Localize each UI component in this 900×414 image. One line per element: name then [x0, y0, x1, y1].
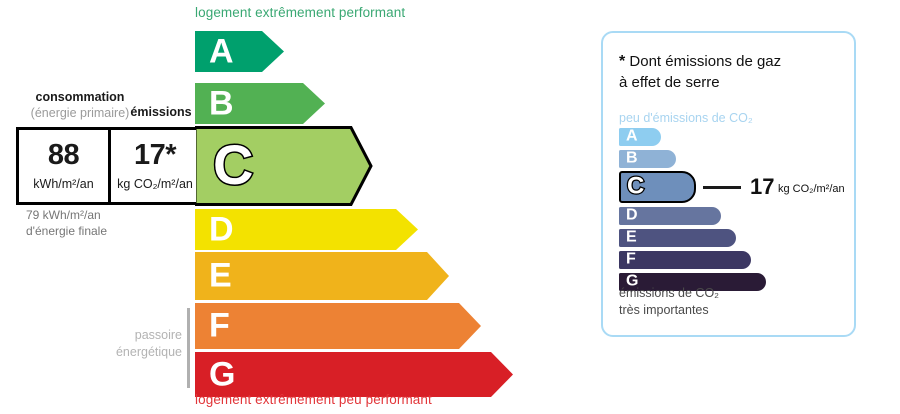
co2-bottom-label: émissions de CO₂ très importantes — [619, 285, 719, 319]
energy-bar-letter: G — [209, 357, 235, 391]
co2-bar-letter: B — [626, 151, 638, 167]
energy-bar-g: G — [195, 352, 513, 397]
energy-bar-letter: A — [209, 34, 234, 68]
co2-bar-letter: C — [627, 175, 644, 199]
energy-bar-c: C — [195, 126, 373, 206]
top-caption: logement extrêmement performant — [195, 5, 405, 20]
emissions-unit: kg CO₂/m²/an — [117, 177, 193, 191]
co2-title-line1: Dont émissions de gaz — [629, 53, 781, 70]
energy-performance-label: logement extrêmement performant ABCDEFG … — [0, 0, 590, 414]
energy-bar-e: E — [195, 252, 449, 300]
co2-bar-letter: F — [626, 252, 636, 268]
energy-bar-b: B — [195, 83, 325, 124]
co2-bar-e: E — [619, 229, 736, 247]
energy-bar-f: F — [195, 303, 481, 349]
co2-bar-c: C — [619, 171, 696, 203]
final-energy-value: 79 kWh/m²/an — [26, 207, 176, 223]
energy-bar-letter: B — [209, 86, 234, 120]
passoire-label-line1: passoire — [96, 327, 182, 344]
co2-bar-d: D — [619, 207, 721, 225]
value-box: 88 kWh/m²/an 17* kg CO₂/m²/an — [16, 127, 196, 205]
co2-panel: * Dont émissions de gaz à effet de serre… — [601, 31, 856, 337]
emissions-value: 17* — [134, 141, 176, 170]
consumption-header: consommation (énergie primaire) — [25, 89, 135, 122]
passoire-divider — [187, 308, 190, 388]
energy-bar-letter: C — [213, 137, 253, 193]
energy-bar-letter: E — [209, 258, 232, 292]
consumption-value: 88 — [48, 141, 79, 170]
dpe-diagram: logement extrêmement performant ABCDEFG … — [0, 0, 900, 414]
energy-bar-a: A — [195, 31, 284, 72]
energy-bar-letter: D — [209, 212, 234, 246]
co2-value: 17 — [750, 176, 774, 198]
asterisk-icon: * — [619, 53, 625, 70]
emissions-header: émissions — [128, 105, 194, 119]
co2-bottom-label-line2: très importantes — [619, 302, 719, 319]
consumption-unit: kWh/m²/an — [33, 177, 93, 191]
consumption-cell: 88 kWh/m²/an — [19, 130, 108, 202]
co2-bar-letter: E — [626, 230, 637, 246]
co2-bottom-label-line1: émissions de CO₂ — [619, 285, 719, 302]
co2-bar-letter: D — [626, 208, 638, 224]
co2-leader-line — [703, 186, 741, 189]
co2-panel-title: * Dont émissions de gaz à effet de serre — [619, 51, 844, 93]
passoire-label: passoire énergétique — [96, 327, 182, 361]
emissions-cell: 17* kg CO₂/m²/an — [108, 130, 199, 202]
co2-bar-f: F — [619, 251, 751, 269]
co2-bar-letter: A — [626, 129, 638, 145]
consumption-header-sublabel: (énergie primaire) — [25, 105, 135, 121]
co2-bar-a: A — [619, 128, 661, 146]
bottom-caption: logement extrêmement peu performant — [195, 392, 432, 407]
passoire-label-line2: énergétique — [96, 344, 182, 361]
co2-top-label: peu d'émissions de CO₂ — [619, 111, 753, 125]
co2-bar-b: B — [619, 150, 676, 168]
final-energy-note: 79 kWh/m²/an d'énergie finale — [26, 207, 176, 239]
co2-title-line2: à effet de serre — [619, 74, 720, 91]
energy-bar-letter: F — [209, 308, 230, 342]
energy-bar-d: D — [195, 209, 418, 250]
consumption-header-label: consommation — [36, 90, 125, 104]
final-energy-text: d'énergie finale — [26, 223, 176, 239]
co2-value-unit: kg CO₂/m²/an — [778, 184, 845, 195]
